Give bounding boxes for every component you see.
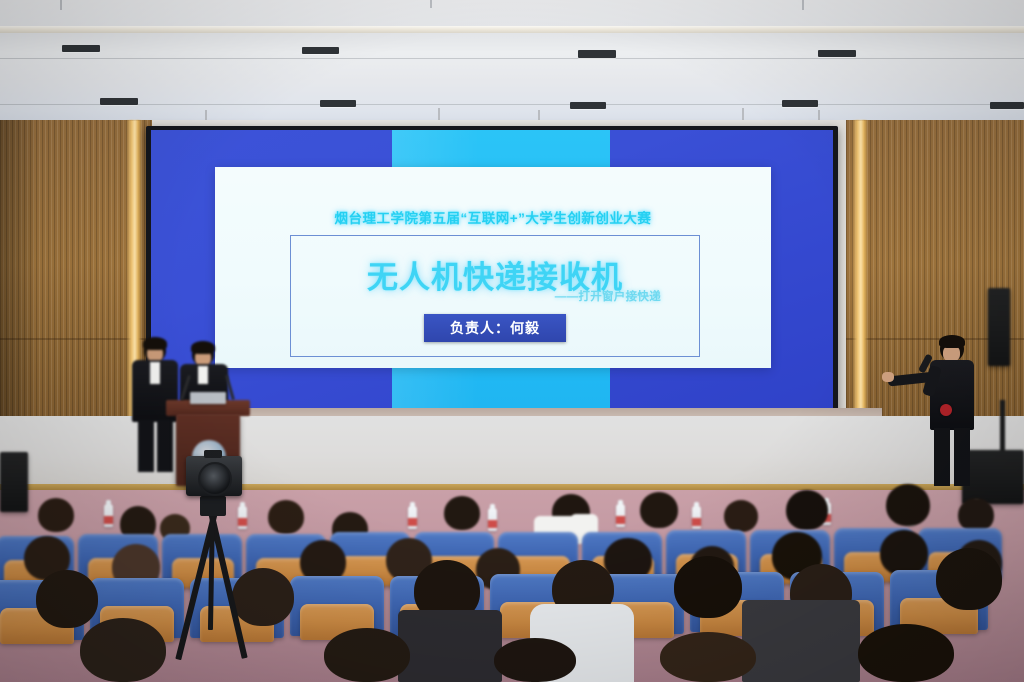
slide-header-text: 烟台理工学院第五届“互联网+”大学生创新创业大赛 <box>215 207 771 227</box>
led-screen[interactable]: 烟台理工学院第五届“互联网+”大学生创新创业大赛 无人机快递接收机 ——打开窗户… <box>151 130 833 411</box>
speaker-cabinet-right-low <box>962 450 1024 504</box>
speaker-cabinet-right <box>988 288 1010 366</box>
slide-subtitle: ——打开窗户接快递 <box>555 288 661 304</box>
laptop-on-podium[interactable] <box>190 392 226 404</box>
speaker-cabinet-left <box>0 452 28 512</box>
auditorium-scene: 烟台理工学院第五届“互联网+”大学生创新创业大赛 无人机快递接收机 ——打开窗户… <box>0 0 1024 682</box>
host-hand <box>882 372 894 382</box>
ceiling <box>0 0 1024 132</box>
slide-owner-badge: 负责人：何毅 <box>424 314 566 342</box>
slide-content-card: 烟台理工学院第五届“互联网+”大学生创新创业大赛 无人机快递接收机 ——打开窗户… <box>215 167 771 368</box>
tripod-head[interactable] <box>200 496 226 516</box>
camera-lens-icon <box>198 462 232 496</box>
slide-inner-frame: 无人机快递接收机 ——打开窗户接快递 负责人：何毅 <box>290 235 700 357</box>
camera-hotshoe <box>204 450 222 458</box>
host-badge-flower <box>940 404 952 416</box>
led-screen-bezel: 烟台理工学院第五届“互联网+”大学生创新创业大赛 无人机快递接收机 ——打开窗户… <box>146 126 838 415</box>
